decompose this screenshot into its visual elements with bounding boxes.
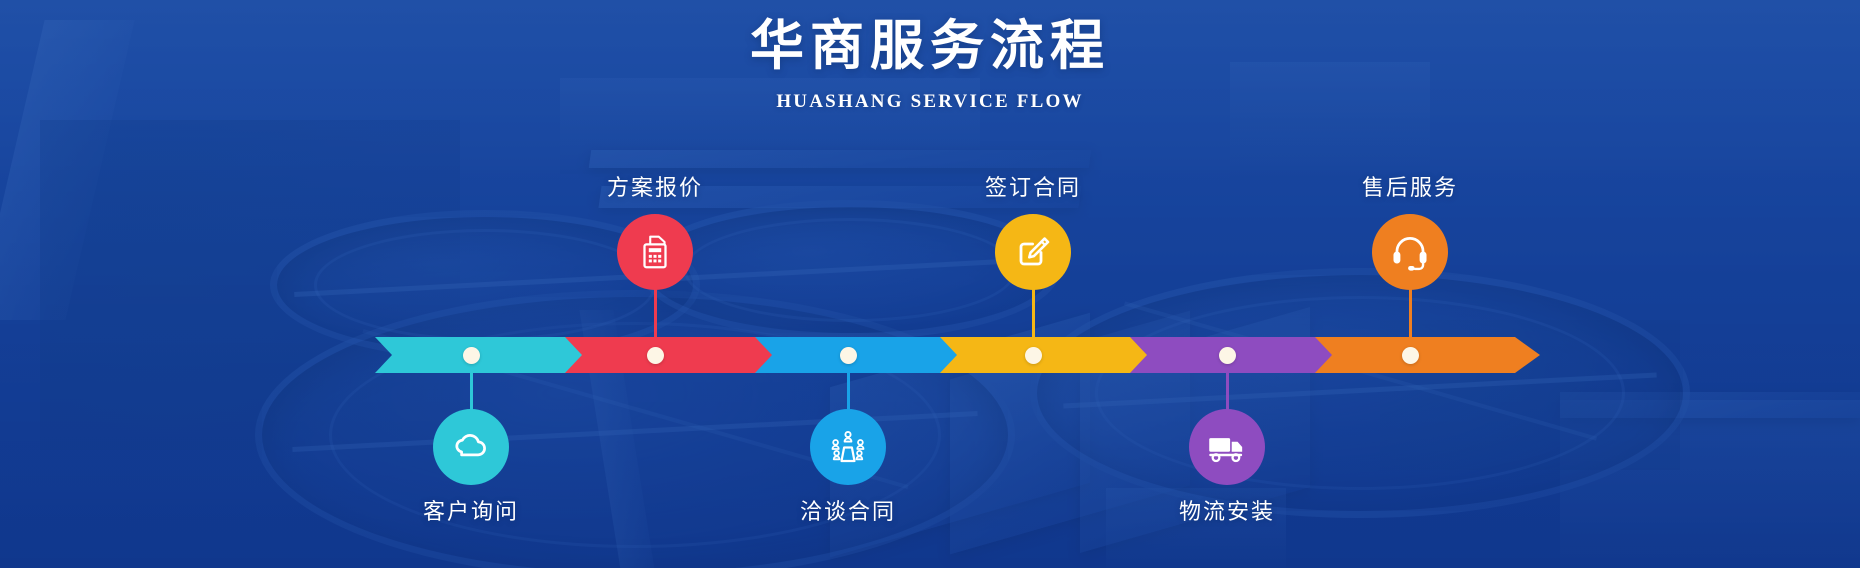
flow-step-icon-bubble-3[interactable] [810, 409, 886, 485]
flow-step-icon-bubble-4[interactable] [995, 214, 1071, 290]
page-title: 华商服务流程 [0, 14, 1860, 79]
flow-step-label-1: 客户询问 [361, 494, 581, 526]
flow-connector-stem-3 [847, 355, 850, 413]
meeting-table-icon [826, 425, 870, 469]
flow-connector-stem-6 [1409, 286, 1412, 355]
page-subtitle: HUASHANG SERVICE FLOW [0, 91, 1860, 113]
delivery-truck-icon [1204, 424, 1250, 470]
cloud-chat-icon [448, 424, 494, 470]
flow-step-icon-bubble-6[interactable] [1372, 214, 1448, 290]
flow-step-label-2: 方案报价 [545, 170, 765, 202]
flow-connector-stem-4 [1032, 286, 1035, 355]
service-flow-banner: 华商服务流程 HUASHANG SERVICE FLOW 客户询问方案报价洽谈合… [0, 0, 1860, 568]
flow-node-dot-3[interactable] [840, 347, 857, 364]
flow-chevron-4[interactable] [940, 337, 1157, 373]
flow-node-dot-4[interactable] [1025, 347, 1042, 364]
flow-step-label-5: 物流安装 [1117, 494, 1337, 526]
flow-step-label-6: 售后服务 [1300, 170, 1520, 202]
flow-step-icon-bubble-5[interactable] [1189, 409, 1265, 485]
flow-connector-stem-5 [1226, 355, 1229, 413]
flow-node-dot-1[interactable] [463, 347, 480, 364]
pen-edit-icon [1011, 230, 1055, 274]
flow-connector-stem-2 [654, 286, 657, 355]
banner-heading: 华商服务流程 HUASHANG SERVICE FLOW [0, 14, 1860, 113]
flow-node-dot-6[interactable] [1402, 347, 1419, 364]
flow-node-dot-5[interactable] [1219, 347, 1236, 364]
flow-node-dot-2[interactable] [647, 347, 664, 364]
calculator-invoice-icon [634, 231, 676, 273]
flow-chevron-2[interactable] [565, 337, 782, 373]
flow-step-icon-bubble-2[interactable] [617, 214, 693, 290]
flow-chevron-1[interactable] [375, 337, 592, 373]
flow-connector-stem-1 [470, 355, 473, 413]
flow-step-label-4: 签订合同 [923, 170, 1143, 202]
flow-chevron-6[interactable] [1315, 337, 1540, 373]
flow-step-label-3: 洽谈合同 [738, 494, 958, 526]
flow-step-icon-bubble-1[interactable] [433, 409, 509, 485]
headset-support-icon [1387, 229, 1433, 275]
